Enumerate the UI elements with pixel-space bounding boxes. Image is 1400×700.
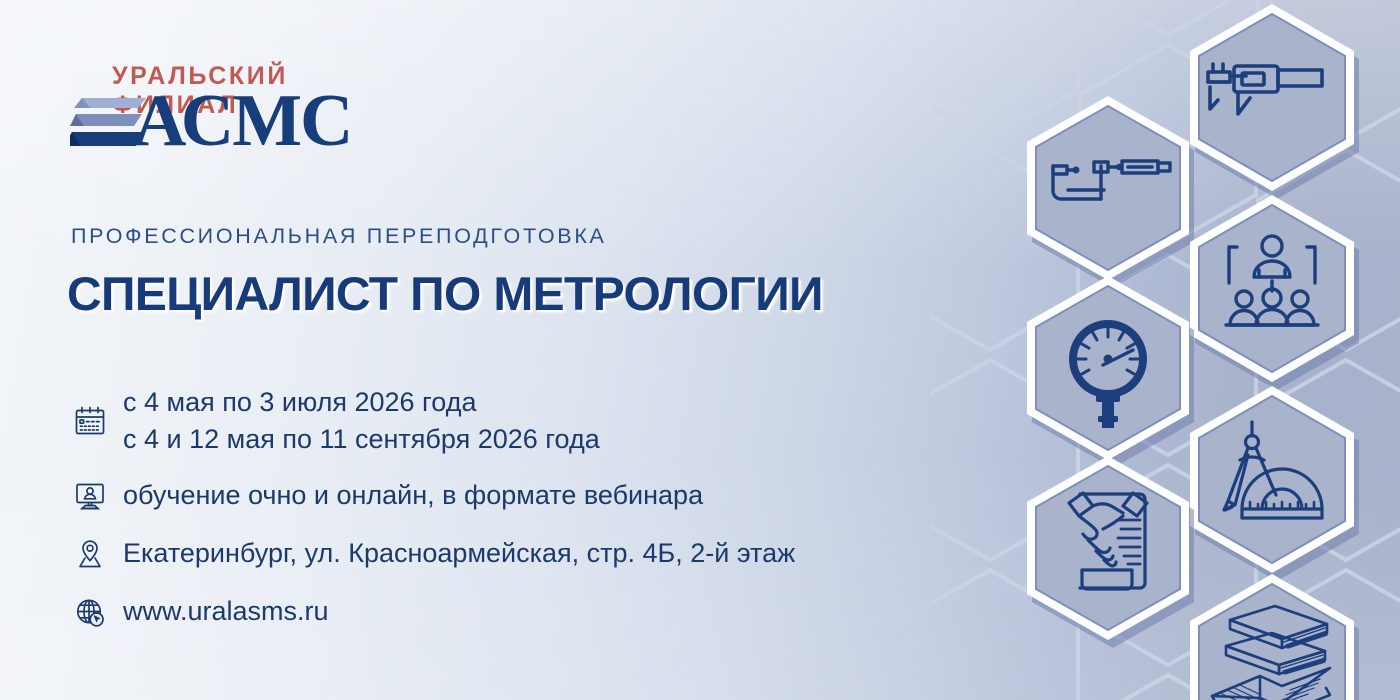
address-text: Екатеринбург, ул. Красноармейская, стр. … bbox=[113, 535, 795, 572]
globe-cursor-icon bbox=[67, 589, 113, 635]
hexcard-caliper[interactable] bbox=[1170, 0, 1385, 199]
hexcard-books[interactable] bbox=[1170, 564, 1385, 700]
promo-banner: УРАЛЬСКИЙ ФИЛИАЛ АСМС ПРОФЕССИОНАЛЬНАЯ П… bbox=[0, 0, 1400, 700]
map-pin-icon bbox=[67, 531, 113, 577]
date-line-1: с 4 мая по 3 июля 2026 года bbox=[123, 384, 600, 421]
content-area: УРАЛЬСКИЙ ФИЛИАЛ АСМС ПРОФЕССИОНАЛЬНАЯ П… bbox=[0, 0, 1000, 700]
dates-text-group: с 4 мая по 3 июля 2026 года с 4 и 12 мая… bbox=[113, 384, 600, 459]
logo[interactable]: УРАЛЬСКИЙ ФИЛИАЛ АСМС bbox=[70, 62, 400, 162]
info-list: с 4 мая по 3 июля 2026 года с 4 и 12 мая… bbox=[67, 384, 967, 647]
date-line-2: с 4 и 12 мая по 11 сентября 2026 года bbox=[123, 421, 600, 458]
info-row-format: обучение очно и онлайн, в формате вебина… bbox=[67, 473, 967, 519]
info-row-website[interactable]: www.uralasms.ru bbox=[67, 589, 967, 635]
info-row-dates: с 4 мая по 3 июля 2026 года с 4 и 12 мая… bbox=[67, 384, 967, 459]
format-text: обучение очно и онлайн, в формате вебина… bbox=[113, 477, 703, 514]
webinar-monitor-icon bbox=[67, 473, 113, 519]
calendar-icon bbox=[67, 398, 113, 444]
info-row-address: Екатеринбург, ул. Красноармейская, стр. … bbox=[67, 531, 967, 577]
logo-wordmark: АСМС bbox=[133, 84, 351, 158]
website-text[interactable]: www.uralasms.ru bbox=[113, 593, 329, 630]
page-title: СПЕЦИАЛИСТ ПО МЕТРОЛОГИИ bbox=[67, 266, 823, 321]
eyebrow-text: ПРОФЕССИОНАЛЬНАЯ ПЕРЕПОДГОТОВКА bbox=[71, 224, 607, 249]
logo-mark-and-word: АСМС bbox=[70, 88, 400, 162]
